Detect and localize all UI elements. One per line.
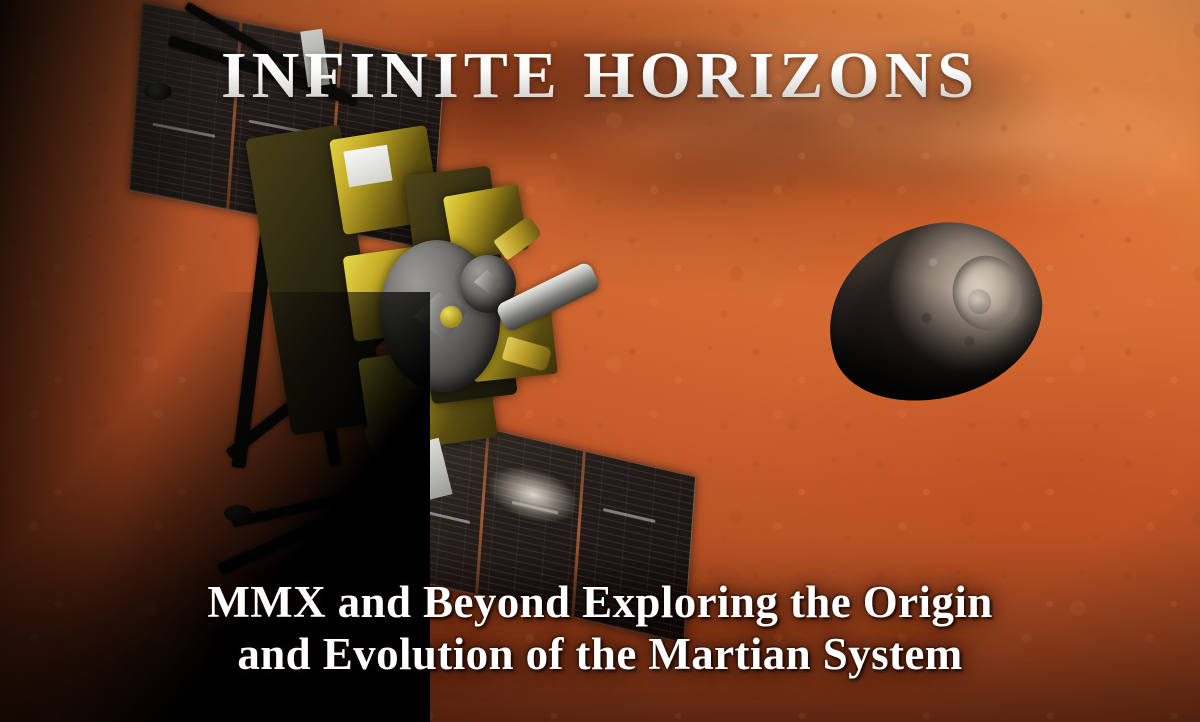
poster-canvas: INFINITE HORIZONS MMX and Beyond Explori…: [0, 0, 1200, 722]
scene-vignette: [0, 0, 1200, 722]
